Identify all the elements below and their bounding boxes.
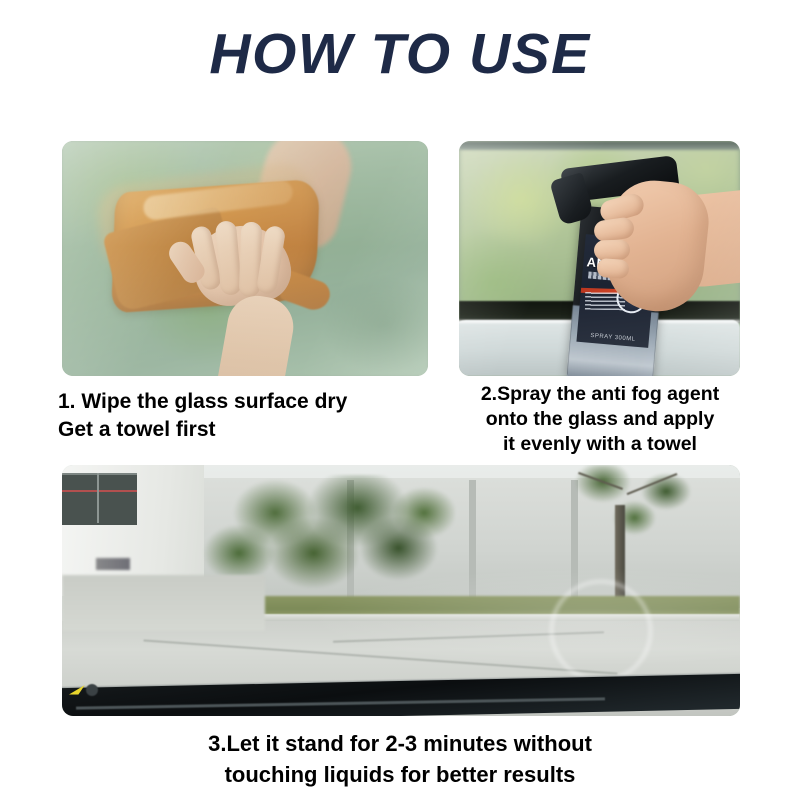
caption-line: 1. Wipe the glass surface dry <box>58 388 438 416</box>
step-3-image <box>62 465 740 716</box>
building-window-mullion <box>62 490 137 492</box>
dashboard-knob <box>86 684 98 696</box>
caption-line: 3.Let it stand for 2-3 minutes without <box>60 728 740 759</box>
caption-line: 2.Spray the anti fog agent <box>452 382 748 407</box>
how-to-use-infographic: HOW TO USE SPRAY ANTI-FOG <box>0 0 800 800</box>
glass-glare-overlay <box>62 141 428 376</box>
step-2-caption: 2.Spray the anti fog agent onto the glas… <box>452 382 748 457</box>
glass-wipe-ring <box>550 580 652 682</box>
caption-line: onto the glass and apply <box>452 407 748 432</box>
step-3-caption: 3.Let it stand for 2-3 minutes without t… <box>60 728 740 790</box>
step-2-image: SPRAY ANTI-FOG SPRAY 300ML <box>459 141 740 376</box>
step-1-caption: 1. Wipe the glass surface dry Get a towe… <box>58 388 438 444</box>
step-1-image <box>62 141 428 376</box>
glass-glare-overlay <box>459 141 740 376</box>
building-window <box>62 473 137 525</box>
building-window-mullion <box>97 473 99 523</box>
caption-line: touching liquids for better results <box>60 759 740 790</box>
caption-line: Get a towel first <box>58 416 438 444</box>
page-title: HOW TO USE <box>0 22 800 86</box>
caption-line: it evenly with a towel <box>452 432 748 457</box>
